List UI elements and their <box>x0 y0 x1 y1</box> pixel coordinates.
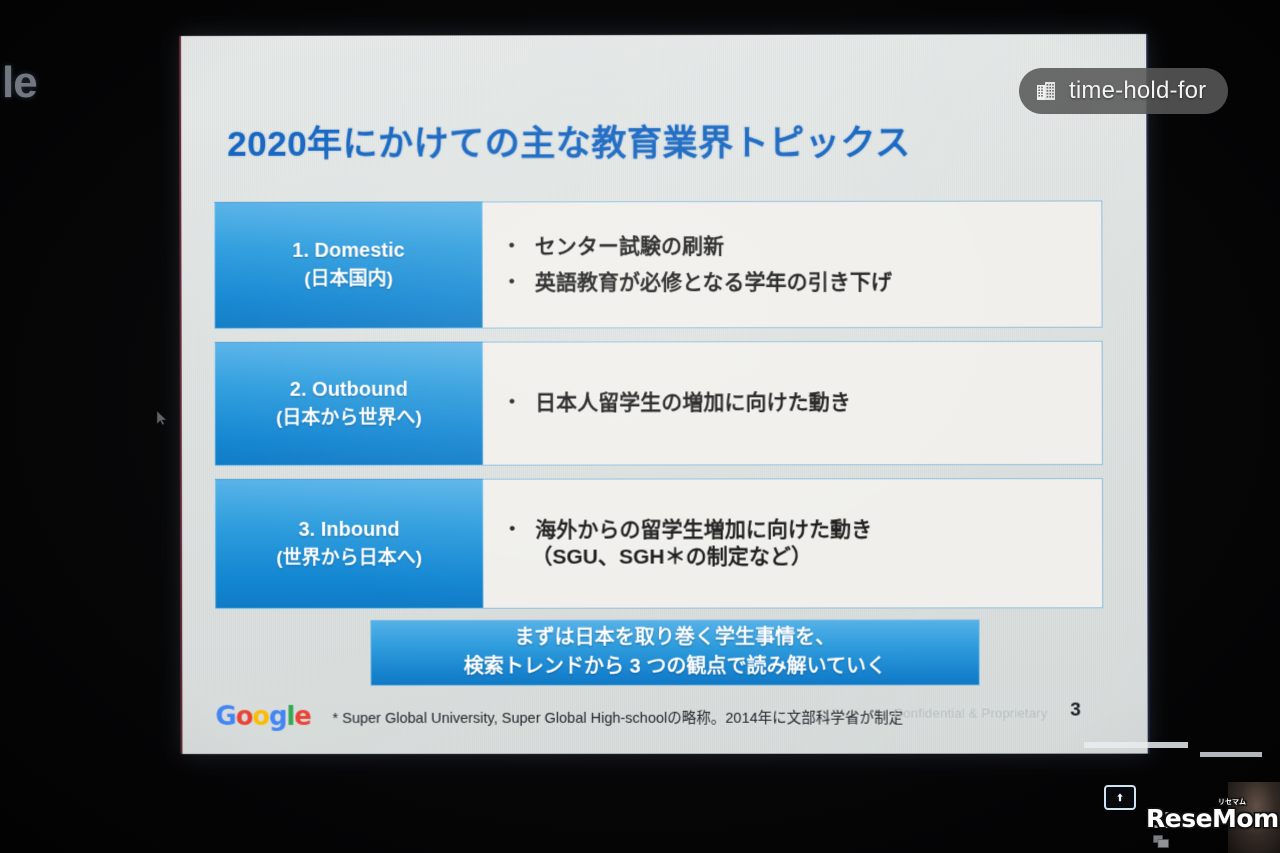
mouse-pointer-icon <box>156 411 168 425</box>
arrow-up-in-box-icon[interactable] <box>1104 785 1136 810</box>
topic-label-domestic: 1. Domestic (日本国内) <box>214 201 482 328</box>
projected-slide-photo: le 2020年にかけての主な教育業界トピックス 1. Domestic (日本… <box>0 0 1280 853</box>
logo-letter: G <box>215 702 235 732</box>
topic-row: 1. Domestic (日本国内) • センター試験の刷新 • 英語教育が必修… <box>214 200 1102 329</box>
bullet-text: センター試験の刷新 <box>535 233 724 261</box>
slide-title: 2020年にかけての主な教育業界トピックス <box>227 115 911 167</box>
topic-label-subtitle: (日本から世界へ) <box>276 404 422 432</box>
topic-label-title: 3. Inbound <box>298 516 399 545</box>
bullet-marker-icon: • <box>509 269 535 294</box>
topic-label-outbound: 2. Outbound (日本から世界へ) <box>215 342 483 466</box>
topic-row: 2. Outbound (日本から世界へ) • 日本人留学生の増加に向けた動き <box>215 341 1103 466</box>
bullet-text: 海外からの留学生増加に向けた動き （SGU、SGH＊の制定など） <box>535 516 872 571</box>
slide-surface: 2020年にかけての主な教育業界トピックス 1. Domestic (日本国内)… <box>181 34 1148 754</box>
recording-status-label: time-hold-for <box>1069 77 1206 105</box>
recording-status-pill[interactable]: time-hold-for <box>1019 68 1228 114</box>
summary-callout: まずは日本を取り巻く学生事情を、 検索トレンドから 3 つの観点で読み解いていく <box>370 619 980 685</box>
bullet-marker-icon: • <box>509 233 535 258</box>
topic-label-title: 1. Domestic <box>292 237 404 266</box>
screen-edge-sliver <box>1084 742 1188 748</box>
logo-letter: g <box>269 702 286 732</box>
watermark-ruby: リセマム <box>1218 799 1246 806</box>
logo-letter: o <box>252 702 269 732</box>
topic-label-subtitle: (世界から日本へ) <box>276 545 422 573</box>
watermark-text: ReseMom. <box>1146 804 1280 833</box>
resemom-watermark: ReseMom. リセマム <box>1146 806 1280 831</box>
bullet-item: • センター試験の刷新 <box>509 232 1088 260</box>
bullet-text-line2: （SGU、SGH＊の制定など） <box>531 543 872 571</box>
building-grid-icon <box>1035 80 1057 102</box>
summary-line-1: まずは日本を取り巻く学生事情を、 <box>514 624 835 653</box>
bullet-marker-icon: • <box>509 516 535 541</box>
bullet-item: • 海外からの留学生増加に向けた動き （SGU、SGH＊の制定など） <box>509 516 1088 571</box>
topic-label-inbound: 3. Inbound (世界から日本へ) <box>215 479 483 609</box>
window-icon <box>1153 835 1169 848</box>
topic-row: 3. Inbound (世界から日本へ) • 海外からの留学生増加に向けた動き … <box>215 478 1103 609</box>
ghost-wordmark-fragment: le <box>2 58 37 108</box>
bullet-text-line1: 海外からの留学生増加に向けた動き <box>535 518 872 541</box>
topic-body-inbound: • 海外からの留学生増加に向けた動き （SGU、SGH＊の制定など） <box>483 479 1102 608</box>
bullet-item: • 英語教育が必修となる学年の引き下げ <box>509 269 1088 297</box>
topic-body-outbound: • 日本人留学生の増加に向けた動き <box>483 342 1102 465</box>
bullet-marker-icon: • <box>509 390 535 415</box>
bullet-text: 英語教育が必修となる学年の引き下げ <box>535 269 892 297</box>
bullet-text: 日本人留学生の増加に向けた動き <box>535 389 851 417</box>
confidentiality-notice: Confidential & Proprietary <box>894 706 1048 721</box>
logo-letter: e <box>294 702 311 732</box>
screen-edge-sliver-secondary <box>1200 752 1262 757</box>
topic-body-domestic: • センター試験の刷新 • 英語教育が必修となる学年の引き下げ <box>483 201 1102 327</box>
logo-letter: o <box>236 702 253 732</box>
topic-label-title: 2. Outbound <box>290 375 408 404</box>
slide-canvas: 2020年にかけての主な教育業界トピックス 1. Domestic (日本国内)… <box>181 34 1148 754</box>
footnote-text: * Super Global University, Super Global … <box>333 706 904 727</box>
bullet-item: • 日本人留学生の増加に向けた動き <box>509 389 1088 417</box>
summary-line-2: 検索トレンドから 3 つの観点で読み解いていく <box>464 653 887 682</box>
logo-letter: l <box>286 702 294 732</box>
topic-label-subtitle: (日本国内) <box>304 266 393 294</box>
google-logo: Google <box>215 702 310 732</box>
page-number: 3 <box>1070 700 1081 722</box>
